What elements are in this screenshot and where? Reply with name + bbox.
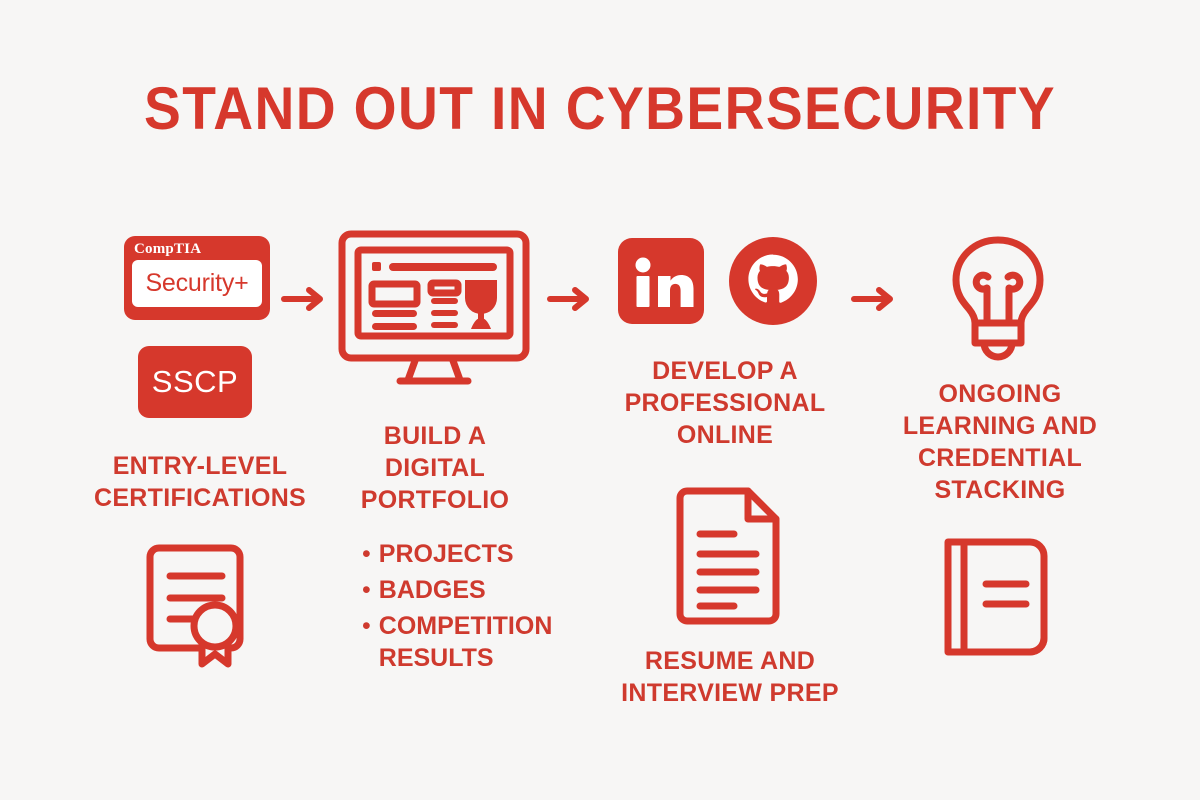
list-item: • BADGES: [362, 574, 592, 606]
caption-entry-level-certifications: ENTRY-LEVEL CERTIFICATIONS: [60, 450, 340, 514]
document-icon: [672, 486, 788, 626]
comptia-brand-label: CompTIA: [132, 241, 262, 257]
bullet-dot-icon: •: [362, 610, 371, 642]
arrow-right-icon-1: [282, 286, 328, 312]
portfolio-bullet-list: • PROJECTS • BADGES • COMPETITION RESULT…: [362, 538, 592, 674]
caption-line: STACKING: [880, 474, 1120, 506]
caption-develop-a-professional-online: DEVELOP A PROFESSIONAL ONLINE: [600, 355, 850, 451]
arrow-right-icon-3: [852, 286, 898, 312]
list-item-label: COMPETITION RESULTS: [379, 610, 553, 674]
list-item-line: COMPETITION: [379, 610, 553, 642]
security-plus-label: Security+: [145, 271, 248, 296]
caption-line: RESUME AND: [580, 645, 880, 677]
list-item-line: RESULTS: [379, 642, 553, 674]
caption-ongoing-learning-and-credential-stacking: ONGOING LEARNING AND CREDENTIAL STACKING: [880, 378, 1120, 506]
comptia-security-plus-badge: CompTIA Security+: [124, 236, 270, 320]
caption-line: CREDENTIAL: [880, 442, 1120, 474]
sscp-label: SSCP: [152, 364, 238, 400]
caption-line: ENTRY-LEVEL: [60, 450, 340, 482]
list-item-label: PROJECTS: [379, 538, 514, 570]
bullet-dot-icon: •: [362, 574, 371, 606]
caption-line: PROFESSIONAL: [600, 387, 850, 419]
certificate-icon: [140, 540, 260, 665]
bullet-dot-icon: •: [362, 538, 371, 570]
caption-line: ONLINE: [600, 419, 850, 451]
caption-line: CERTIFICATIONS: [60, 482, 340, 514]
list-item-label: BADGES: [379, 574, 486, 606]
caption-line: PORTFOLIO: [335, 484, 535, 516]
caption-line: INTERVIEW PREP: [580, 677, 880, 709]
desktop-monitor-icon: [336, 228, 532, 388]
list-item: • PROJECTS: [362, 538, 592, 570]
github-icon: [728, 236, 818, 326]
page-title: STAND OUT IN CYBERSECURITY: [48, 74, 1152, 143]
arrow-right-icon-2: [548, 286, 594, 312]
security-plus-box: Security+: [132, 260, 262, 307]
infographic-canvas: STAND OUT IN CYBERSECURITY CompTIA Secur…: [0, 0, 1200, 800]
caption-line: DEVELOP A: [600, 355, 850, 387]
sscp-badge: SSCP: [138, 346, 252, 418]
caption-line: ONGOING: [880, 378, 1120, 410]
lightbulb-icon: [940, 232, 1056, 368]
caption-line: DIGITAL: [335, 452, 535, 484]
caption-build-a-digital-portfolio: BUILD A DIGITAL PORTFOLIO: [335, 420, 535, 516]
caption-line: BUILD A: [335, 420, 535, 452]
linkedin-icon: [618, 238, 704, 324]
caption-resume-and-interview-prep: RESUME AND INTERVIEW PREP: [580, 645, 880, 709]
list-item: • COMPETITION RESULTS: [362, 610, 592, 674]
book-icon: [934, 532, 1058, 662]
caption-line: LEARNING AND: [880, 410, 1120, 442]
